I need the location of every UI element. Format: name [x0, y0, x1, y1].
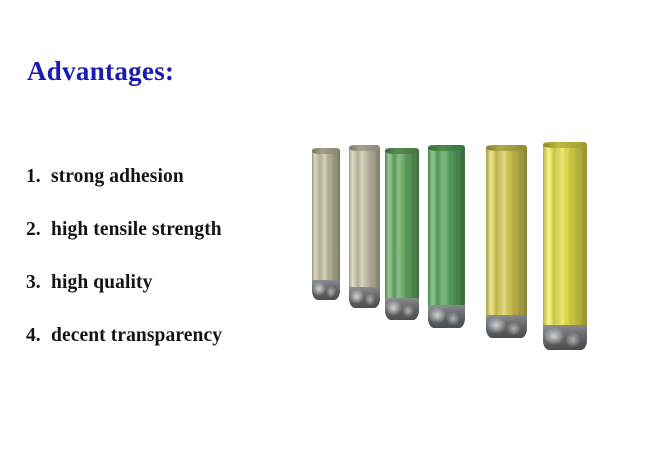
page-title: Advantages: [27, 57, 174, 87]
roll-top-cap [312, 148, 340, 154]
roll-bottom-core [428, 305, 465, 328]
list-item: 1. strong adhesion [26, 166, 296, 219]
advantages-list: 1. strong adhesion 2. high tensile stren… [26, 166, 296, 378]
roll-6-yellow [543, 142, 587, 350]
list-item-label: decent transparency [51, 325, 222, 347]
roll-bottom-core [486, 315, 527, 338]
list-item-number: 4. [26, 325, 51, 347]
roll-top-cap [385, 148, 419, 154]
list-item-label: strong adhesion [51, 166, 184, 188]
adhesive-tape-rolls-photo [305, 130, 615, 360]
list-item-number: 1. [26, 166, 51, 188]
roll-top-cap [543, 142, 587, 148]
list-item: 2. high tensile strength [26, 219, 296, 272]
list-item-number: 2. [26, 219, 51, 241]
roll-5-yellow [486, 145, 527, 338]
roll-top-cap [428, 145, 465, 151]
roll-bottom-core [349, 287, 380, 308]
roll-grain [543, 142, 587, 350]
list-item: 4. decent transparency [26, 325, 296, 378]
roll-grain [428, 145, 465, 328]
roll-grain [349, 145, 380, 308]
list-item-number: 3. [26, 272, 51, 294]
list-item: 3. high quality [26, 272, 296, 325]
roll-grain [312, 148, 340, 300]
list-item-label: high quality [51, 272, 152, 294]
roll-bottom-core [385, 298, 419, 320]
roll-top-cap [349, 145, 380, 151]
roll-2-beige [349, 145, 380, 308]
roll-bottom-core [312, 280, 340, 300]
roll-4-green [428, 145, 465, 328]
roll-grain [385, 148, 419, 320]
roll-3-green [385, 148, 419, 320]
roll-bottom-core [543, 325, 587, 350]
list-item-label: high tensile strength [51, 219, 222, 241]
roll-grain [486, 145, 527, 338]
roll-1-beige [312, 148, 340, 300]
roll-top-cap [486, 145, 527, 151]
slide-canvas: Advantages: 1. strong adhesion 2. high t… [0, 0, 650, 465]
